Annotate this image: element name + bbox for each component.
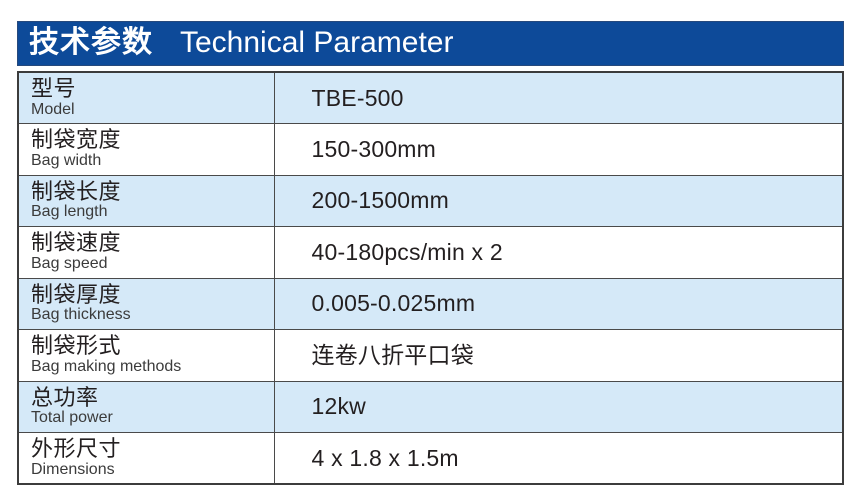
parameter-value-cell: 0.005-0.025mm — [274, 278, 843, 330]
parameter-label-chinese: 制袋速度 — [31, 232, 274, 254]
parameter-label-chinese: 型号 — [31, 78, 274, 100]
parameter-value: 连卷八折平口袋 — [312, 344, 843, 367]
parameter-value: 12kw — [312, 395, 843, 418]
parameter-value: 4 x 1.8 x 1.5m — [312, 447, 843, 470]
parameter-value: TBE-500 — [312, 87, 843, 110]
table-row: 制袋宽度 Bag width 150-300mm — [18, 124, 843, 176]
parameter-value-cell: 40-180pcs/min x 2 — [274, 227, 843, 279]
parameter-value-cell: 连卷八折平口袋 — [274, 330, 843, 382]
parameter-label-english: Bag width — [31, 153, 274, 169]
specification-table: 型号 Model TBE-500 制袋宽度 Bag width 150-300m… — [17, 71, 844, 485]
parameter-label-english: Total power — [31, 410, 274, 426]
title-english: Technical Parameter — [180, 28, 453, 60]
parameter-value-cell: 4 x 1.8 x 1.5m — [274, 433, 843, 485]
parameter-value-cell: 200-1500mm — [274, 175, 843, 227]
parameter-label-english: Bag length — [31, 204, 274, 220]
parameter-label-cell: 制袋速度 Bag speed — [18, 227, 274, 279]
specification-table-body: 型号 Model TBE-500 制袋宽度 Bag width 150-300m… — [18, 72, 843, 484]
parameter-label-cell: 制袋形式 Bag making methods — [18, 330, 274, 382]
parameter-label-chinese: 制袋长度 — [31, 181, 274, 203]
parameter-value: 150-300mm — [312, 138, 843, 161]
parameter-value: 200-1500mm — [312, 189, 843, 212]
parameter-value-cell: 150-300mm — [274, 124, 843, 176]
parameter-label-english: Model — [31, 102, 274, 118]
parameter-label-english: Bag thickness — [31, 307, 274, 323]
parameter-label-cell: 制袋厚度 Bag thickness — [18, 278, 274, 330]
title-chinese: 技术参数 — [29, 28, 153, 60]
parameter-label-chinese: 制袋形式 — [31, 335, 274, 357]
title-banner: 技术参数 Technical Parameter — [17, 21, 844, 66]
parameter-label-cell: 外形尺寸 Dimensions — [18, 433, 274, 485]
parameter-value: 0.005-0.025mm — [312, 292, 843, 315]
parameter-value-cell: TBE-500 — [274, 72, 843, 124]
table-row: 制袋长度 Bag length 200-1500mm — [18, 175, 843, 227]
parameter-value: 40-180pcs/min x 2 — [312, 241, 843, 264]
technical-parameter-sheet: 技术参数 Technical Parameter 型号 Model TBE-50… — [17, 21, 844, 485]
parameter-label-chinese: 制袋厚度 — [31, 284, 274, 306]
parameter-label-chinese: 制袋宽度 — [31, 129, 274, 151]
parameter-label-english: Bag speed — [31, 256, 274, 272]
table-row: 制袋速度 Bag speed 40-180pcs/min x 2 — [18, 227, 843, 279]
table-row: 型号 Model TBE-500 — [18, 72, 843, 124]
parameter-label-chinese: 总功率 — [31, 387, 274, 409]
table-row: 制袋厚度 Bag thickness 0.005-0.025mm — [18, 278, 843, 330]
parameter-label-cell: 制袋长度 Bag length — [18, 175, 274, 227]
parameter-label-cell: 制袋宽度 Bag width — [18, 124, 274, 176]
parameter-label-cell: 总功率 Total power — [18, 381, 274, 433]
parameter-label-chinese: 外形尺寸 — [31, 438, 274, 460]
table-row: 总功率 Total power 12kw — [18, 381, 843, 433]
table-row: 外形尺寸 Dimensions 4 x 1.8 x 1.5m — [18, 433, 843, 485]
parameter-label-english: Bag making methods — [31, 359, 274, 375]
table-row: 制袋形式 Bag making methods 连卷八折平口袋 — [18, 330, 843, 382]
parameter-value-cell: 12kw — [274, 381, 843, 433]
parameter-label-english: Dimensions — [31, 462, 274, 478]
parameter-label-cell: 型号 Model — [18, 72, 274, 124]
